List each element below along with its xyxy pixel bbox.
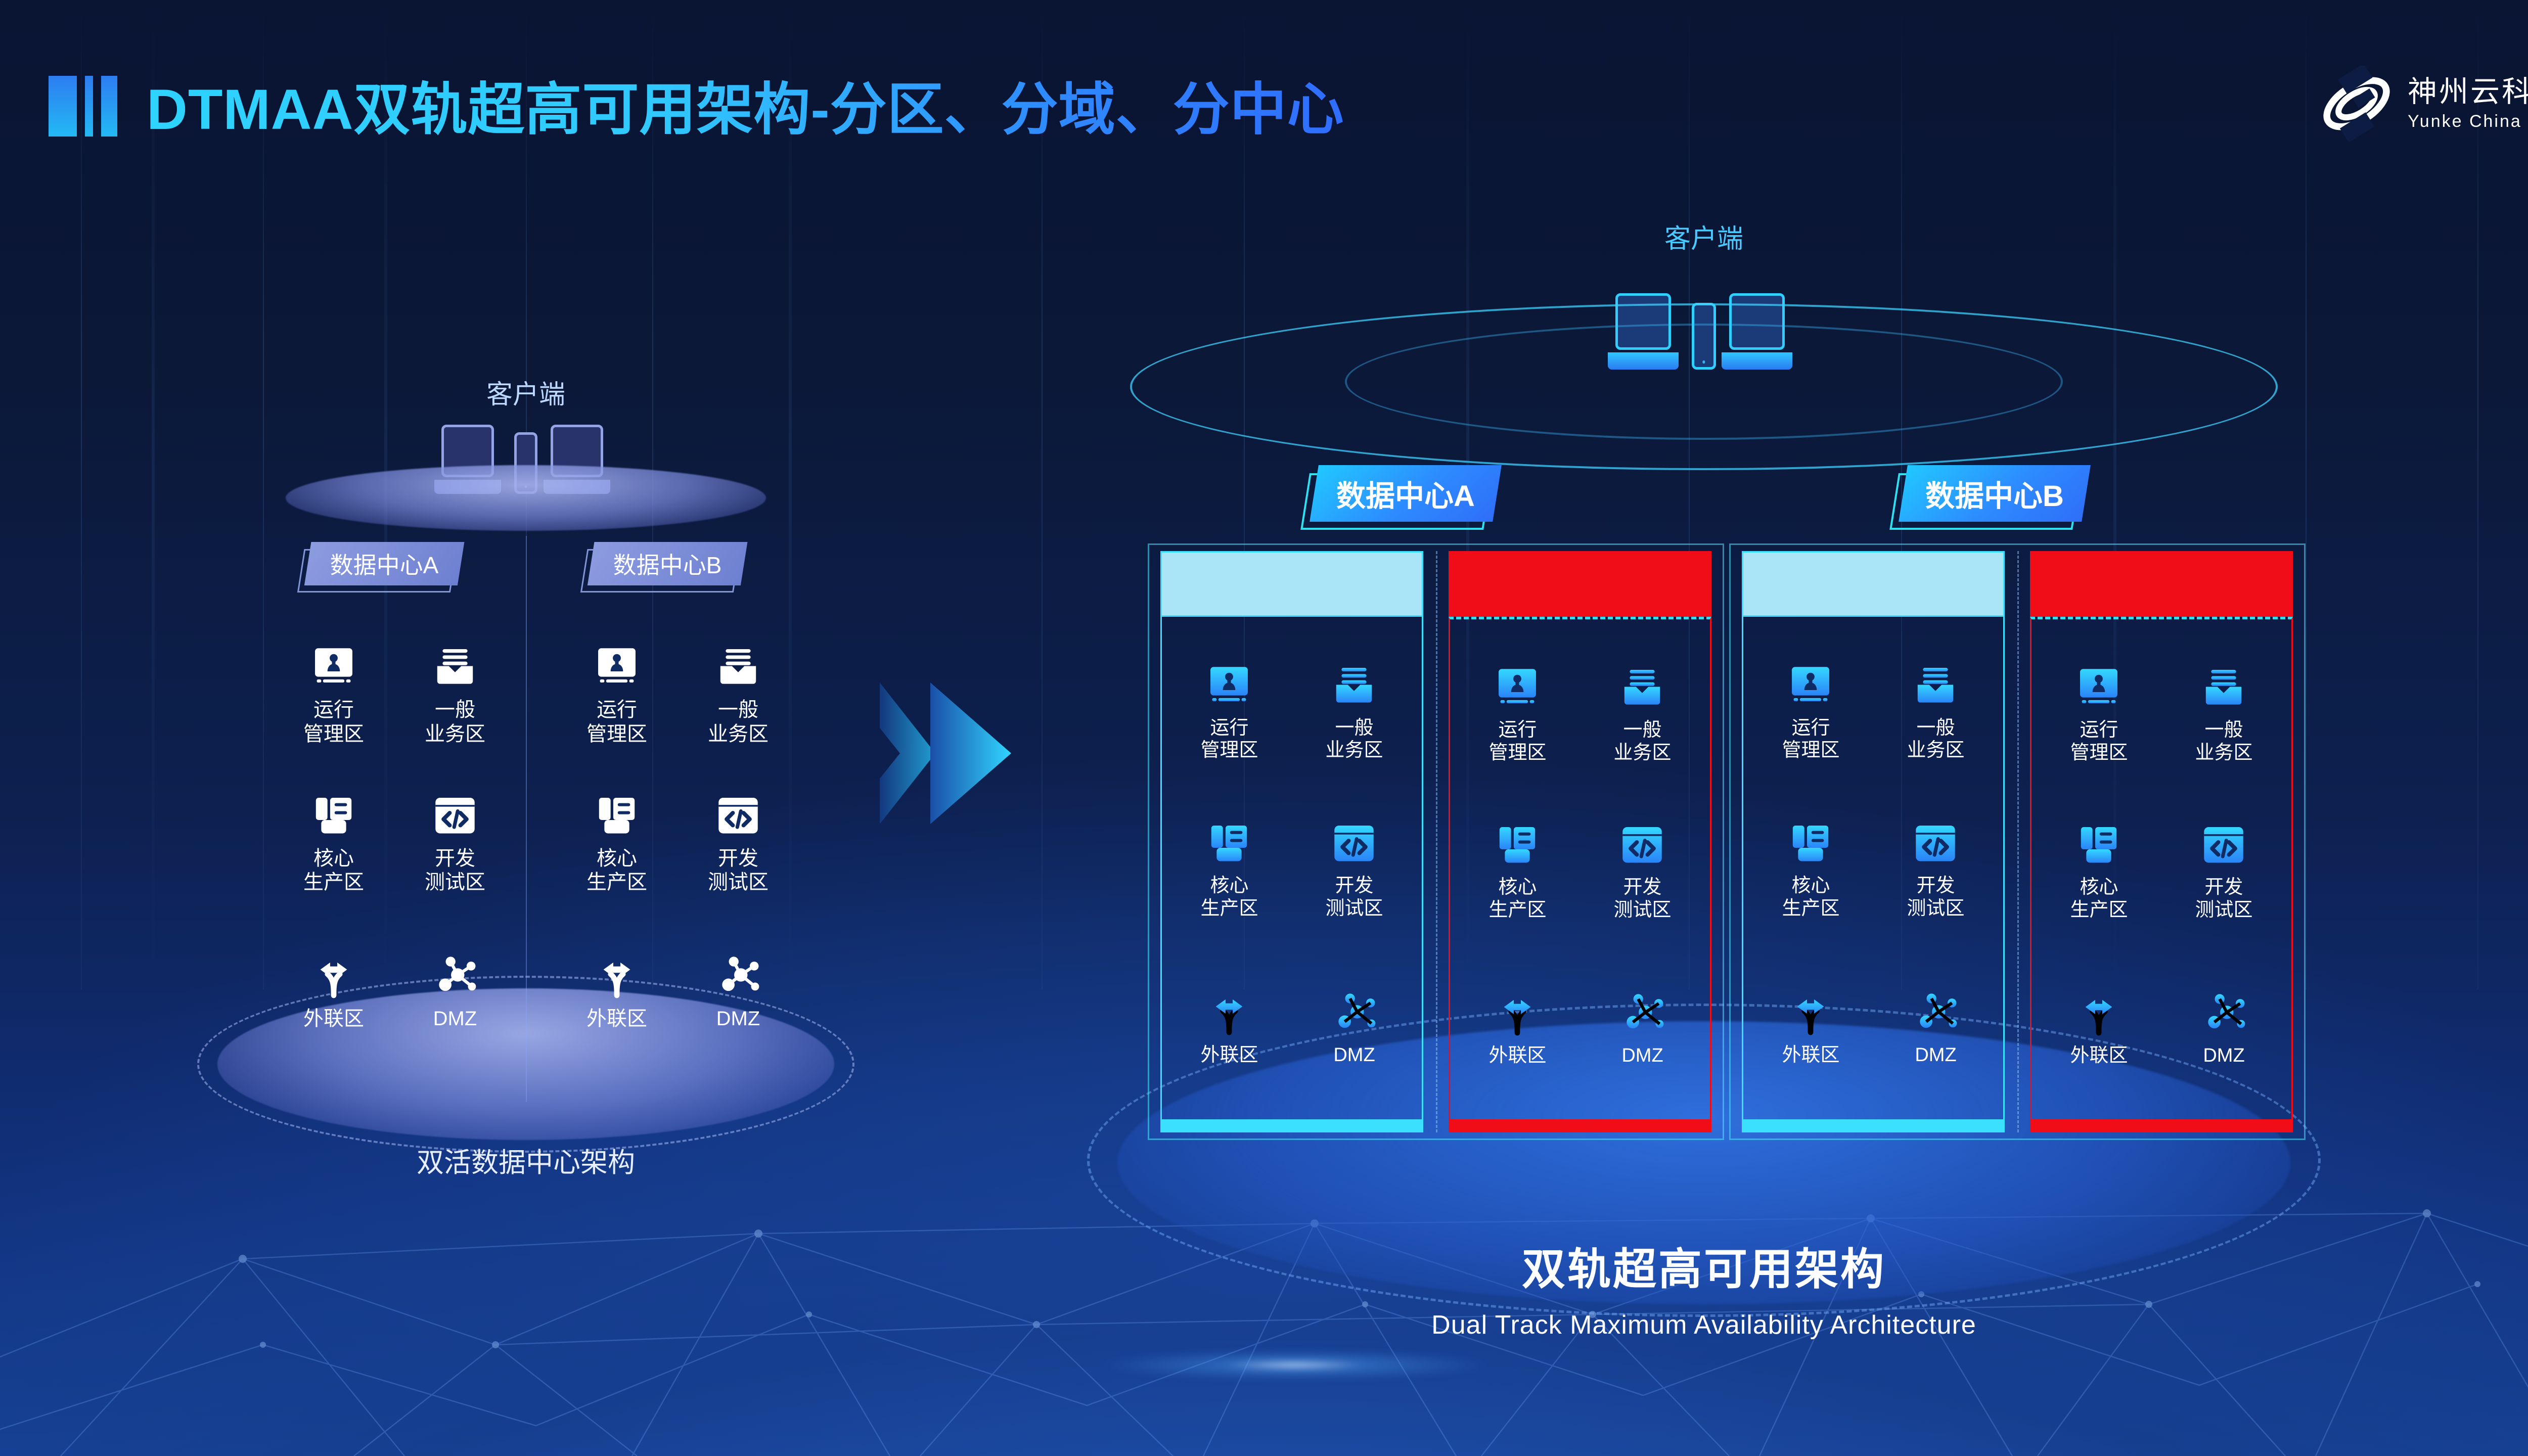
- zone-cell[interactable]: 核心 生产区: [1782, 822, 1839, 920]
- zone-cell[interactable]: 开发 测试区: [1613, 824, 1671, 922]
- zone-cell[interactable]: 外联区: [586, 954, 647, 1031]
- bg-light-beam: [1042, 0, 1043, 990]
- zone-panel-header-3: [1742, 551, 2005, 617]
- zone-label: 外联区: [1200, 1044, 1258, 1067]
- network-molecule-icon: [1332, 991, 1377, 1036]
- zone-label: DMZ: [716, 1007, 760, 1031]
- code-brackets-icon: [433, 794, 477, 839]
- code-brackets-icon: [1913, 822, 1958, 867]
- zone-label: 开发 测试区: [1613, 876, 1671, 922]
- user-on-monitor-icon: [1788, 664, 1833, 709]
- zone-cell[interactable]: 一般 业务区: [2195, 666, 2252, 764]
- user-on-monitor-icon: [1495, 666, 1540, 711]
- user-on-monitor-icon: [595, 646, 639, 690]
- zone-cell[interactable]: DMZ: [716, 954, 760, 1031]
- server-stack-icon: [2076, 824, 2121, 868]
- zone-label: 运行 管理区: [303, 698, 364, 746]
- zone-panel-footer-4: [2030, 1119, 2293, 1132]
- code-brackets-icon: [1332, 822, 1376, 867]
- zone-cell[interactable]: 开发 测试区: [2195, 824, 2252, 922]
- zone-label: 核心 生产区: [1488, 876, 1546, 922]
- right-diagram-caption: 双轨超高可用架构 Dual Track Maximum Availability…: [1431, 1234, 1976, 1340]
- zone-label: 一般 业务区: [1907, 717, 1964, 762]
- zone-panel-footer-3: [1742, 1119, 2005, 1132]
- server-stack-icon: [1788, 822, 1833, 867]
- zone-label: 核心 生产区: [2070, 876, 2128, 922]
- zone-label: 开发 测试区: [1325, 875, 1383, 920]
- right-dc-tag-b[interactable]: 数据中心B: [1903, 465, 2086, 522]
- brand-logo: 神州云科 Yunke China: [2319, 66, 2528, 142]
- zone-cell[interactable]: 核心 生产区: [1200, 822, 1258, 920]
- right-caption-cn: 双轨超高可用架构: [1431, 1234, 1976, 1297]
- zone-label: DMZ: [1621, 1044, 1663, 1067]
- network-molecule-icon: [1914, 991, 1958, 1036]
- title-accent-bars: [49, 76, 117, 136]
- zone-label: 运行 管理区: [1200, 717, 1258, 762]
- user-on-monitor-icon: [2076, 666, 2121, 711]
- inbox-tray-icon: [1620, 666, 1664, 711]
- left-dc-tag-b[interactable]: 数据中心B: [591, 542, 744, 585]
- zone-cell[interactable]: 开发 测试区: [1325, 822, 1383, 920]
- zone-panel-header-2: [1449, 551, 1711, 617]
- right-dc-tag-a[interactable]: 数据中心A: [1314, 465, 1497, 522]
- zone-panel-footer-1: [1160, 1119, 1423, 1132]
- inbox-tray-icon: [1332, 664, 1376, 709]
- left-dc-tag-a-label: 数据中心A: [330, 547, 439, 580]
- user-on-monitor-icon: [311, 646, 356, 690]
- network-molecule-icon: [433, 954, 477, 999]
- swirl-spiral-logo-icon: [2319, 66, 2395, 142]
- network-molecule-icon: [716, 954, 760, 999]
- left-dc-tag-b-label: 数据中心B: [613, 547, 722, 580]
- zone-label: 核心 生产区: [1200, 875, 1258, 920]
- inbox-tray-icon: [716, 646, 760, 690]
- left-dc-a-zone-grid: 运行 管理区一般 业务区核心 生产区开发 测试区外联区DMZ: [273, 622, 516, 1067]
- branching-arrows-icon: [1495, 992, 1540, 1036]
- zone-cell[interactable]: 一般 业务区: [708, 646, 769, 746]
- zone-cell[interactable]: 运行 管理区: [303, 646, 364, 746]
- zone-label: 一般 业务区: [425, 698, 485, 746]
- inbox-tray-icon: [1913, 664, 1958, 709]
- zone-label: 外联区: [303, 1007, 364, 1031]
- zone-cell[interactable]: 运行 管理区: [2070, 666, 2128, 764]
- zone-panel-2[interactable]: 运行 管理区一般 业务区核心 生产区开发 测试区外联区DMZ: [1449, 551, 1711, 1132]
- zone-label: 开发 测试区: [425, 847, 485, 894]
- zone-panel-footer-2: [1449, 1119, 1711, 1132]
- bg-light-beam: [2477, 0, 2478, 990]
- zone-label: 开发 测试区: [708, 847, 769, 894]
- left-client-label: 客户端: [486, 373, 565, 411]
- zone-cell[interactable]: 运行 管理区: [1200, 664, 1258, 762]
- right-dc-a-divider: [1436, 551, 1437, 1132]
- zone-panel-3[interactable]: 运行 管理区一般 业务区核心 生产区开发 测试区外联区DMZ: [1742, 551, 2005, 1132]
- server-stack-icon: [595, 794, 639, 839]
- branching-arrows-icon: [595, 954, 639, 999]
- zone-cell[interactable]: 开发 测试区: [708, 794, 769, 894]
- double-chevron-right-icon: [880, 672, 1042, 837]
- zone-label: 开发 测试区: [1907, 875, 1964, 920]
- zone-cell[interactable]: 核心 生产区: [586, 794, 647, 894]
- zone-cell[interactable]: 外联区: [1488, 992, 1546, 1067]
- zone-label: 运行 管理区: [1488, 719, 1546, 764]
- zone-label: 外联区: [1782, 1044, 1839, 1067]
- server-stack-icon: [311, 794, 356, 839]
- zone-label: 核心 生产区: [1782, 875, 1839, 920]
- zone-label: 运行 管理区: [1782, 717, 1839, 762]
- zone-label: DMZ: [1915, 1044, 1956, 1067]
- brand-name-en: Yunke China: [2408, 113, 2528, 130]
- left-diagram-caption: 双活数据中心架构: [417, 1140, 635, 1180]
- zone-cell[interactable]: 开发 测试区: [425, 794, 485, 894]
- bg-light-beam: [2306, 0, 2307, 990]
- zone-cell[interactable]: 运行 管理区: [586, 646, 647, 746]
- zone-panel-4[interactable]: 运行 管理区一般 业务区核心 生产区开发 测试区外联区DMZ: [2030, 551, 2293, 1132]
- right-client-label: 客户端: [1664, 217, 1743, 255]
- zone-panel-1[interactable]: 运行 管理区一般 业务区核心 生产区开发 测试区外联区DMZ: [1160, 551, 1423, 1132]
- user-on-monitor-icon: [1207, 664, 1251, 709]
- bg-light-beam: [81, 0, 82, 990]
- zone-label: 运行 管理区: [2070, 719, 2128, 764]
- left-dc-divider: [526, 536, 527, 1102]
- zone-label: 一般 业务区: [1613, 719, 1671, 764]
- branching-arrows-icon: [311, 954, 356, 999]
- bg-light-beam: [152, 0, 155, 990]
- zone-panel-header-1: [1160, 551, 1423, 617]
- zone-label: 外联区: [1488, 1044, 1546, 1067]
- zone-cell[interactable]: 一般 业务区: [425, 646, 485, 746]
- zone-label: DMZ: [1333, 1044, 1375, 1067]
- branching-arrows-icon: [1207, 991, 1251, 1036]
- zone-label: 一般 业务区: [1325, 717, 1383, 762]
- slide-canvas: DTMAA双轨超高可用架构-分区、分域、分中心 神州云科 Yunke China…: [0, 0, 2528, 1456]
- zone-cell[interactable]: 外联区: [1200, 991, 1258, 1067]
- zone-cell[interactable]: 运行 管理区: [1488, 666, 1546, 764]
- zone-cell[interactable]: DMZ: [1332, 991, 1377, 1067]
- zone-label: 核心 生产区: [303, 847, 364, 894]
- zone-cell[interactable]: 开发 测试区: [1907, 822, 1964, 920]
- zone-cell[interactable]: 外联区: [1782, 991, 1839, 1067]
- branching-arrows-icon: [1788, 991, 1833, 1036]
- zone-label: 运行 管理区: [586, 698, 647, 746]
- right-dc-tag-a-label: 数据中心A: [1336, 472, 1475, 515]
- zone-label: DMZ: [2203, 1044, 2244, 1067]
- code-brackets-icon: [2201, 824, 2246, 868]
- right-dc-tag-b-label: 数据中心B: [1925, 472, 2064, 515]
- server-stack-icon: [1207, 822, 1251, 867]
- zone-panel-header-4: [2030, 551, 2293, 617]
- code-brackets-icon: [1620, 824, 1664, 868]
- code-brackets-icon: [716, 794, 760, 839]
- zone-cell[interactable]: 核心 生产区: [1488, 824, 1546, 922]
- zone-cell[interactable]: 外联区: [303, 954, 364, 1031]
- zone-cell[interactable]: 核心 生产区: [2070, 824, 2128, 922]
- server-stack-icon: [1495, 824, 1540, 868]
- zone-cell[interactable]: DMZ: [433, 954, 477, 1031]
- right-caption-en: Dual Track Maximum Availability Architec…: [1431, 1310, 1976, 1340]
- zone-cell[interactable]: DMZ: [1914, 991, 1958, 1067]
- zone-cell[interactable]: DMZ: [2202, 992, 2246, 1067]
- inbox-tray-icon: [433, 646, 477, 690]
- bottom-glow: [1102, 1350, 1486, 1380]
- zone-cell[interactable]: 一般 业务区: [1613, 666, 1671, 764]
- zone-cell[interactable]: 一般 业务区: [1325, 664, 1383, 762]
- network-molecule-icon: [2202, 992, 2246, 1036]
- zone-cell[interactable]: DMZ: [1620, 992, 1665, 1067]
- bg-light-beam: [263, 0, 264, 990]
- left-client-platform: [286, 465, 766, 531]
- left-dc-b-zone-grid: 运行 管理区一般 业务区核心 生产区开发 测试区外联区DMZ: [556, 622, 799, 1067]
- right-client-ring-outer: [1130, 303, 2278, 470]
- zone-cell[interactable]: 外联区: [2070, 992, 2128, 1067]
- zone-label: 核心 生产区: [586, 847, 647, 894]
- zone-label: 开发 测试区: [2195, 876, 2252, 922]
- zone-label: 一般 业务区: [2195, 719, 2252, 764]
- page-title: DTMAA双轨超高可用架构-分区、分域、分中心: [147, 64, 1344, 146]
- left-dc-tag-a[interactable]: 数据中心A: [308, 542, 461, 585]
- zone-cell[interactable]: 核心 生产区: [303, 794, 364, 894]
- zone-cell[interactable]: 运行 管理区: [1782, 664, 1839, 762]
- branching-arrows-icon: [2076, 992, 2121, 1036]
- zone-label: 外联区: [586, 1007, 647, 1031]
- zone-label: DMZ: [433, 1007, 477, 1031]
- zone-label: 一般 业务区: [708, 698, 769, 746]
- brand-name-cn: 神州云科: [2408, 77, 2528, 107]
- inbox-tray-icon: [2201, 666, 2246, 711]
- zone-label: 外联区: [2070, 1044, 2128, 1067]
- right-dc-b-divider: [2017, 551, 2019, 1132]
- network-molecule-icon: [1620, 992, 1665, 1036]
- zone-cell[interactable]: 一般 业务区: [1907, 664, 1964, 762]
